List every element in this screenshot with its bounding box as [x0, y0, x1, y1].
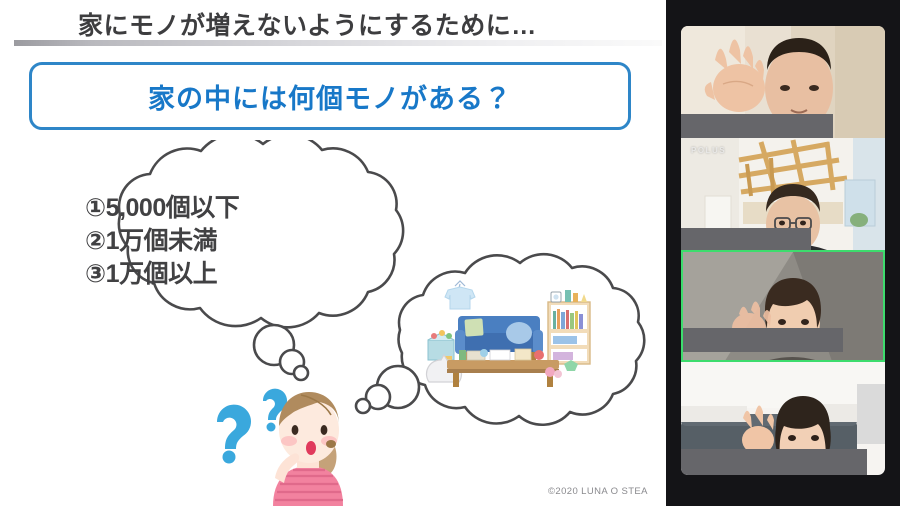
question-callout-box: 家の中には何個モノがある？: [29, 62, 631, 130]
name-label-redaction-3: [683, 328, 843, 352]
mouth: [306, 441, 316, 455]
name-label-redaction-2: [681, 228, 811, 250]
name-label-redaction-1: [681, 114, 833, 138]
video-tile-participant-4[interactable]: [681, 362, 885, 475]
copyright-notice: ©2020 LUNA O STEA: [548, 486, 648, 497]
option-item-2: ②1万個未満: [85, 225, 335, 258]
video-tile-participant-1[interactable]: [681, 26, 885, 138]
video-tile-participant-2[interactable]: POLUS: [681, 138, 885, 250]
page-title: 家にモノが増えないようにするために…: [78, 6, 638, 42]
living-room-illustration: [415, 278, 605, 390]
title-divider: [14, 40, 662, 46]
participant-video-panel: POLUS: [666, 0, 900, 506]
thinking-person-illustration: [205, 378, 355, 506]
toy-box-icon: [428, 330, 454, 361]
screen-share-view: 家にモノが増えないようにするために… 家の中には何個モノがある？ ①5,000: [0, 0, 900, 506]
coffee-table-icon: [447, 349, 559, 387]
eye-left: [292, 425, 299, 435]
question-mark-icon: [217, 389, 287, 464]
question-text: 家の中には何個モノがある？: [148, 77, 512, 116]
option-item-1: ①5,000個以下: [85, 192, 335, 225]
hanging-shirt-icon: [445, 281, 475, 309]
option-item-3: ③1万個以上: [85, 258, 335, 291]
name-label-redaction-4: [681, 449, 867, 475]
bookshelf-icon: [548, 290, 590, 364]
video-tile-participant-3[interactable]: [681, 250, 885, 362]
polus-watermark: POLUS: [691, 146, 726, 155]
presentation-slide: 家にモノが増えないようにするために… 家の中には何個モノがある？ ①5,000: [0, 0, 666, 506]
eye-right: [321, 425, 328, 435]
options-list: ①5,000個以下 ②1万個未満 ③1万個以上: [85, 192, 335, 291]
room-bubble-tail-3: [356, 399, 370, 413]
